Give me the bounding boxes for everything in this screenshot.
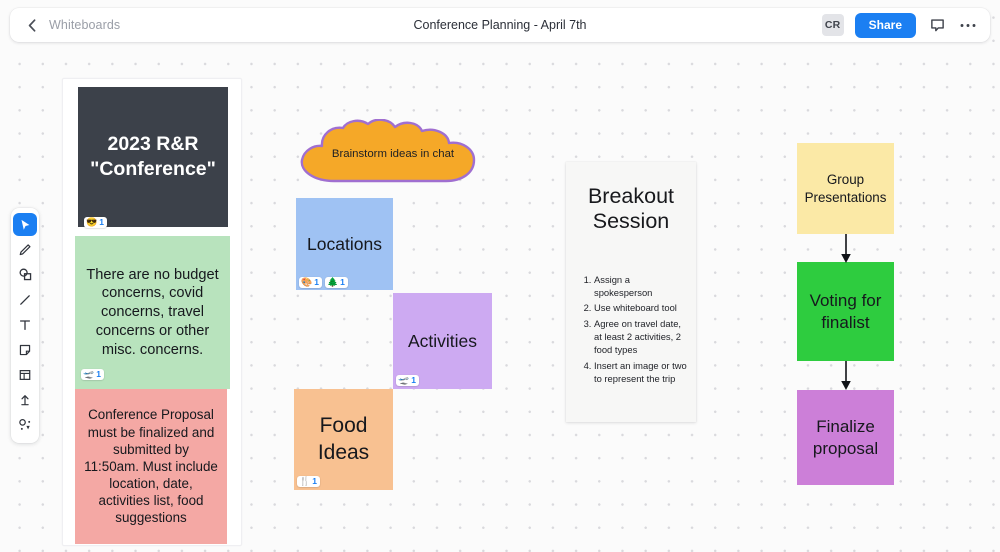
doc-card-breakout-session[interactable]: Breakout Session Assign a spokesperson U…: [566, 162, 696, 422]
reaction-count: 1: [411, 376, 416, 385]
chevron-left-glyph: [28, 19, 36, 32]
widgets-icon: [18, 418, 32, 432]
comment-glyph: [930, 18, 945, 33]
flow-group-presentations-text: Group Presentations: [796, 171, 896, 205]
upload-icon: [18, 393, 32, 407]
reaction-count: 1: [312, 477, 317, 486]
doc-card-title-line1: Breakout: [578, 184, 684, 209]
left-toolbar: [11, 208, 39, 443]
sticky-note-icon: [18, 343, 32, 357]
emoji-sunglasses-icon: 😎: [86, 218, 97, 227]
flow-finalize-proposal[interactable]: Finalize proposal: [797, 390, 894, 485]
more-horizontal-icon[interactable]: [958, 15, 978, 35]
doc-card-title-line2: Session: [578, 209, 684, 234]
frame-icon: [18, 368, 32, 382]
widgets-tool[interactable]: [13, 413, 37, 436]
sticky-food-ideas-text: Food Ideas: [294, 413, 393, 467]
reaction-badge[interactable]: 🍴 1: [297, 476, 320, 487]
flow-finalize-proposal-text: Finalize proposal: [797, 416, 894, 460]
emoji-fork-knife-icon: 🍴: [299, 477, 310, 486]
title-card-line2: "Conference": [90, 157, 216, 182]
flow-voting-for-finalist-text: Voting for finalist: [797, 290, 894, 334]
list-item: Assign a spokesperson: [594, 273, 688, 300]
note-conference-proposal-text: Conference Proposal must be finalized an…: [75, 406, 227, 526]
emoji-art-icon: 🎨: [301, 278, 312, 287]
reaction-badge[interactable]: 🛫 1: [81, 369, 104, 380]
sticky-activities-text: Activities: [399, 330, 486, 352]
more-glyph: [960, 23, 976, 28]
note-no-concerns[interactable]: There are no budget concerns, covid conc…: [75, 236, 230, 389]
top-bar: Whiteboards Conference Planning - April …: [10, 8, 990, 42]
note-no-concerns-text: There are no budget concerns, covid conc…: [75, 266, 230, 359]
note-no-concerns-reactions: 🛫 1: [81, 369, 104, 380]
comment-icon[interactable]: [927, 15, 947, 35]
doc-card-title: Breakout Session: [566, 162, 696, 235]
title-card-line1: 2023 R&R: [90, 132, 216, 157]
sticky-activities-reactions: 🛫 1: [396, 375, 419, 386]
connector-arrow-2[interactable]: [838, 361, 854, 391]
whiteboard-app: 2023 R&R "Conference" 😎 1 There are no b…: [0, 0, 1000, 552]
sticky-locations-reactions: 🎨 1 🌲 1: [299, 277, 348, 288]
doc-card-list: Assign a spokesperson Use whiteboard too…: [566, 235, 696, 386]
cursor-icon: [18, 218, 32, 232]
flow-voting-for-finalist[interactable]: Voting for finalist: [797, 262, 894, 361]
line-tool[interactable]: [13, 288, 37, 311]
reaction-badge[interactable]: 🎨 1: [299, 277, 322, 288]
share-button[interactable]: Share: [855, 13, 916, 38]
reaction-badge[interactable]: 🌲 1: [325, 277, 348, 288]
upload-tool[interactable]: [13, 388, 37, 411]
frame-tool[interactable]: [13, 363, 37, 386]
connector-arrow-1[interactable]: [838, 234, 854, 264]
cloud-label: Brainstorm ideas in chat: [294, 119, 492, 189]
select-tool[interactable]: [13, 213, 37, 236]
title-card-reactions: 😎 1: [84, 217, 107, 228]
reaction-count: 1: [314, 278, 319, 287]
reaction-count: 1: [99, 218, 104, 227]
emoji-airplane-icon: 🛫: [398, 376, 409, 385]
list-item: Agree on travel date, at least 2 activit…: [594, 317, 688, 357]
top-bar-actions: CR Share: [822, 13, 978, 38]
cloud-shape[interactable]: Brainstorm ideas in chat: [294, 119, 492, 189]
line-icon: [18, 293, 32, 307]
flow-group-presentations[interactable]: Group Presentations: [797, 143, 894, 234]
list-item: Use whiteboard tool: [594, 301, 688, 314]
shapes-icon: [18, 267, 33, 282]
list-item: Insert an image or two to represent the …: [594, 359, 688, 386]
reaction-badge[interactable]: 😎 1: [84, 217, 107, 228]
sticky-locations-text: Locations: [298, 233, 391, 255]
sticky-note-tool[interactable]: [13, 338, 37, 361]
sticky-food-ideas[interactable]: Food Ideas: [294, 389, 393, 490]
pen-tool[interactable]: [13, 238, 37, 261]
reaction-count: 1: [340, 278, 345, 287]
sticky-food-ideas-reactions: 🍴 1: [297, 476, 320, 487]
pen-icon: [18, 243, 32, 257]
emoji-tree-icon: 🌲: [327, 278, 338, 287]
title-card[interactable]: 2023 R&R "Conference": [78, 87, 228, 227]
text-icon: [18, 318, 32, 332]
shapes-tool[interactable]: [13, 263, 37, 286]
emoji-airplane-icon: 🛫: [83, 370, 94, 379]
reaction-badge[interactable]: 🛫 1: [396, 375, 419, 386]
back-chevron-icon[interactable]: [24, 17, 40, 33]
text-tool[interactable]: [13, 313, 37, 336]
avatar[interactable]: CR: [822, 14, 844, 36]
reaction-count: 1: [96, 370, 101, 379]
note-conference-proposal[interactable]: Conference Proposal must be finalized an…: [75, 389, 227, 544]
breadcrumb[interactable]: Whiteboards: [49, 18, 120, 32]
